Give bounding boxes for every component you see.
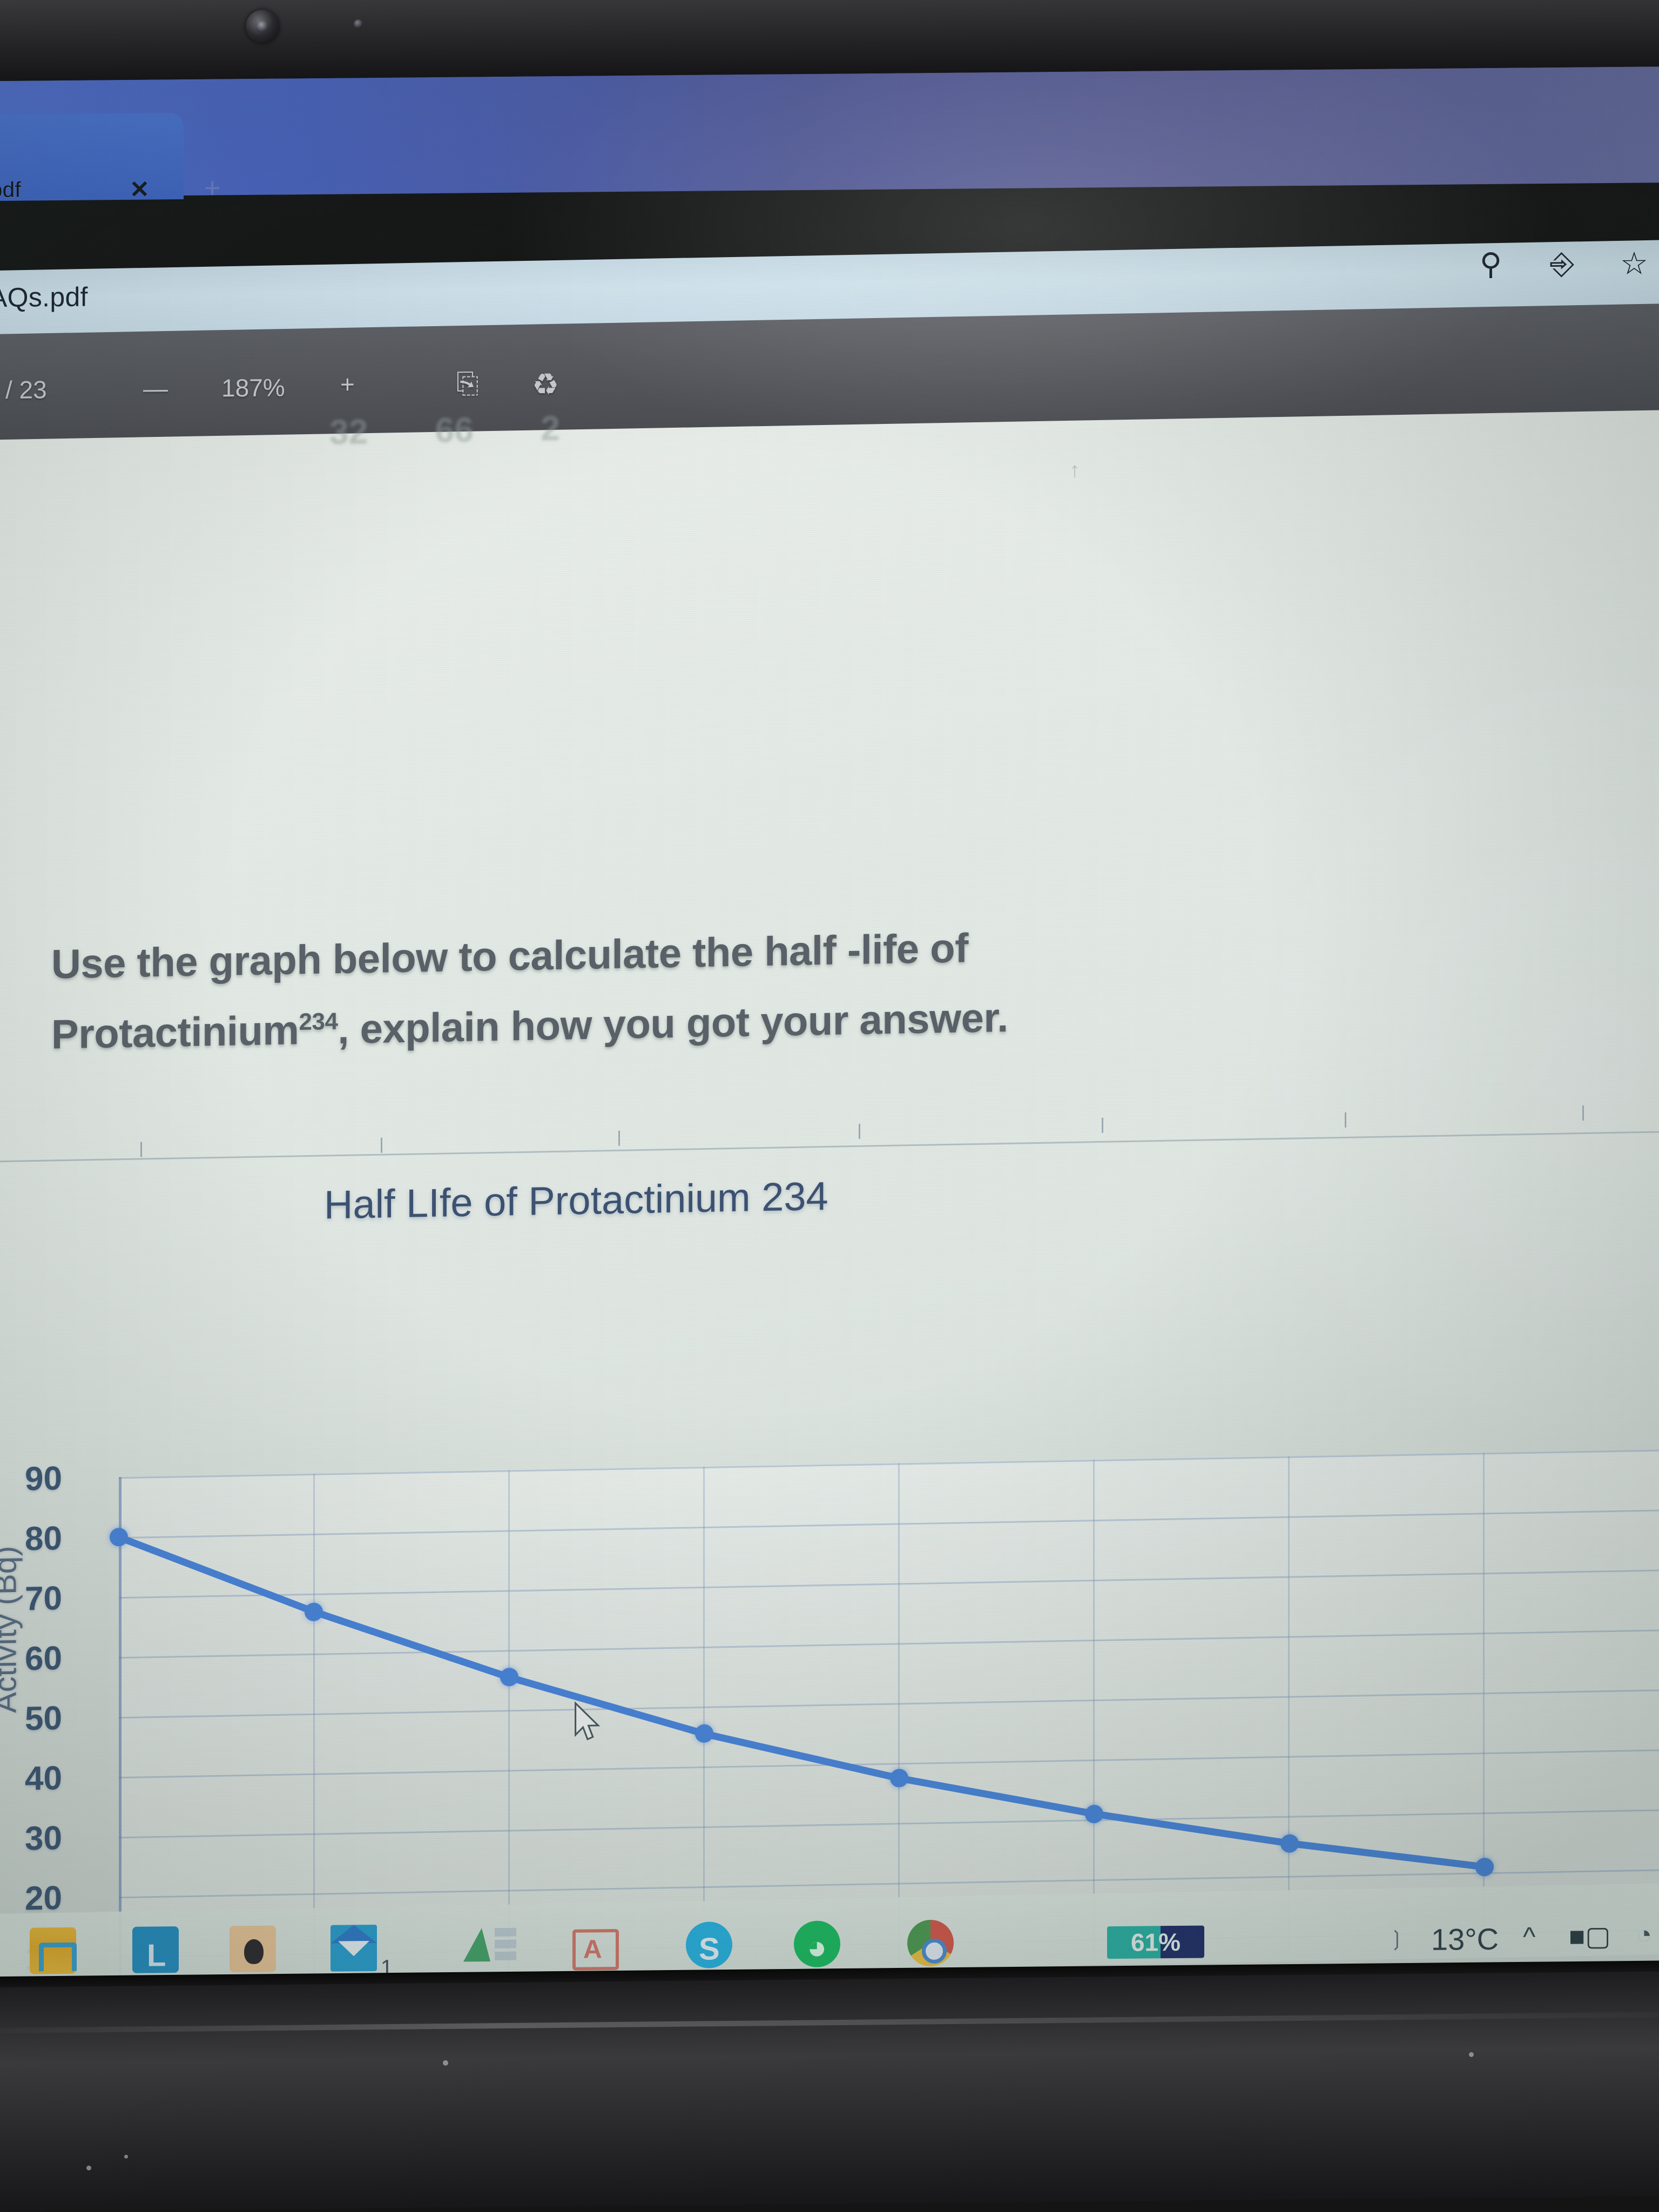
address-text: AQs.pdf: [0, 281, 88, 314]
share-icon[interactable]: ⎆: [1550, 246, 1574, 282]
star-icon[interactable]: ☆: [1620, 245, 1648, 281]
zoom-in-button[interactable]: +: [340, 369, 355, 399]
magnifier-icon[interactable]: ⚲: [1480, 246, 1502, 282]
cropped-text-above: 32 66 2: [329, 408, 560, 453]
fit-page-icon[interactable]: ⎘: [456, 367, 479, 400]
caret-mark: ↑: [1069, 458, 1080, 483]
battery-icon[interactable]: ■▢: [1569, 1920, 1610, 1952]
pdf-page: 32 66 2 ↑ c) Use the graph below to calc…: [0, 409, 1659, 1985]
laptop-photo: pdf ✕ + AQs.pdf ⚲ ⎆ ☆ / 23 — 187% + ⎘ ♻ …: [0, 0, 1659, 2212]
temperature-label: 13°C: [1431, 1921, 1499, 1957]
y-axis-title: Activity (Bq): [0, 1489, 24, 1770]
zoom-out-button[interactable]: —: [143, 374, 168, 403]
y-tick-label: 30: [0, 1819, 62, 1859]
laptop-bottom-bezel: [0, 1972, 1659, 2212]
data-point: [305, 1602, 323, 1621]
wifi-icon[interactable]: ◔: [1636, 1920, 1652, 1950]
tray-arc-icon: ❳: [1388, 1926, 1405, 1951]
laptop-screen: pdf ✕ + AQs.pdf ⚲ ⎆ ☆ / 23 — 187% + ⎘ ♻ …: [0, 66, 1659, 1987]
excel-grid-glyph: [495, 1928, 516, 1961]
data-point: [1085, 1804, 1103, 1823]
close-icon[interactable]: ✕: [130, 176, 150, 204]
file-explorer-glyph: [39, 1943, 77, 1972]
photo-glyph: [244, 1939, 264, 1964]
battery-badge[interactable]: 61%: [1107, 1926, 1204, 1959]
data-point: [1475, 1858, 1494, 1877]
ruler-line: [0, 1131, 1659, 1164]
browser-tab-label: pdf: [0, 178, 21, 203]
spotify-glyph: ◕: [807, 1928, 827, 1967]
plus-icon[interactable]: +: [204, 172, 220, 204]
page-indicator: / 23: [5, 375, 47, 404]
question-line-2: Protactinium234, explain how you got you…: [51, 994, 1008, 1058]
chrome-center-glyph: [922, 1939, 947, 1964]
question-line2-post: , explain how you got your answer.: [338, 995, 1008, 1053]
chart-title: Half LIfe of Protactinium 234: [324, 1173, 828, 1228]
zoom-level-label: 187%: [221, 373, 285, 402]
mail-envelope-glyph: [338, 1941, 369, 1957]
webcam-lens-icon: [256, 20, 269, 33]
chevron-up-icon[interactable]: ^: [1523, 1921, 1535, 1952]
linkedin-glyph: L: [147, 1937, 166, 1973]
mouse-cursor-icon: [572, 1701, 603, 1744]
pdf-reader-glyph: A: [583, 1934, 602, 1964]
browser-titlebar: [0, 66, 1659, 197]
data-point: [1280, 1834, 1299, 1853]
excel-glyph: [463, 1928, 490, 1961]
skype-glyph: S: [699, 1931, 720, 1967]
microphone-icon: [354, 19, 363, 29]
browser-tab[interactable]: [0, 113, 184, 201]
battery-percent-label: 61%: [1107, 1926, 1204, 1959]
question-line-1: Use the graph below to calculate the hal…: [51, 925, 968, 988]
question-line2-superscript: 234: [299, 1008, 338, 1035]
question-line2-pre: Protactinium: [51, 1007, 299, 1057]
rotate-icon[interactable]: ♻: [532, 367, 559, 402]
